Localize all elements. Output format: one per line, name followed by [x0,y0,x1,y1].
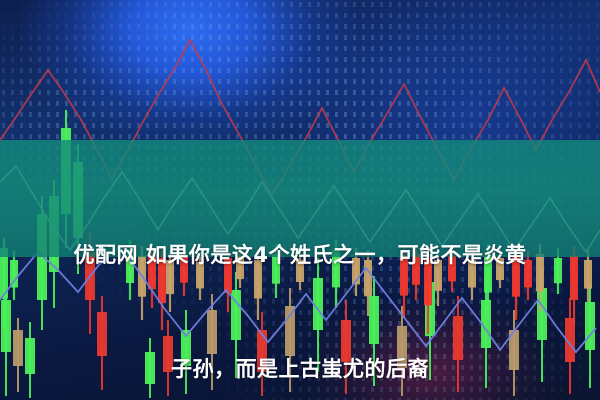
headline-text: 优配网 如果你是这4个姓氏之一，可能不是炎黄 子孙，而是上古蚩尤的后裔 [0,160,600,400]
stock-banner-image: 优配网 如果你是这4个姓氏之一，可能不是炎黄 子孙，而是上古蚩尤的后裔 [0,0,600,400]
headline-line-2: 子孙，而是上古蚩尤的后裔 [0,350,600,388]
headline-line-1: 优配网 如果你是这4个姓氏之一，可能不是炎黄 [0,236,600,274]
